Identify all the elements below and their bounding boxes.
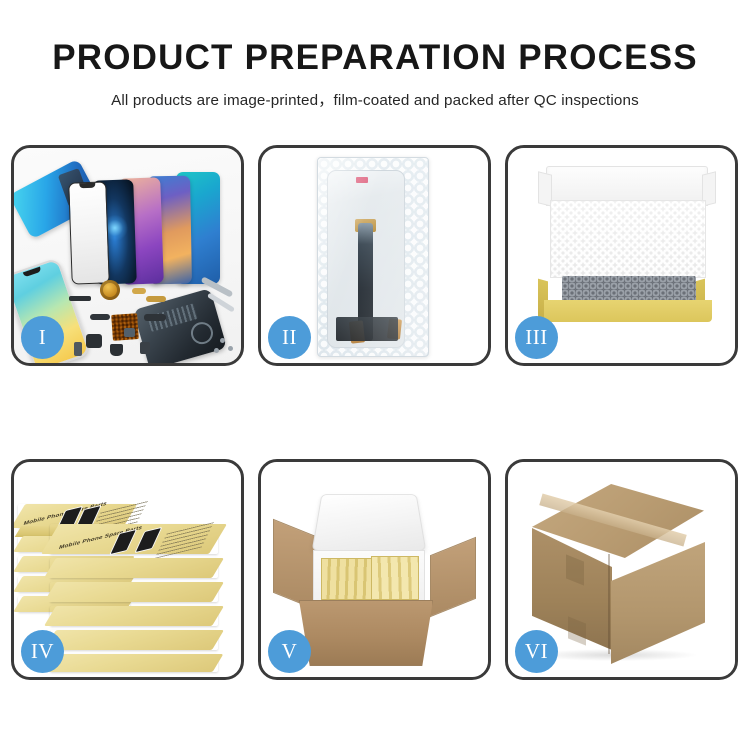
- lcd-bottom-bezel-icon: [336, 317, 398, 341]
- step-panel-3[interactable]: III: [505, 145, 738, 366]
- foam-lid-icon: [312, 494, 427, 551]
- step-badge-3: III: [515, 316, 558, 359]
- screw-icon: [228, 346, 233, 351]
- sim-tray-icon: [140, 342, 150, 354]
- gold-flex-icon: [146, 296, 166, 302]
- lcd-screen-icon: [327, 170, 405, 348]
- flex-cable-icon: [90, 314, 110, 320]
- phone-glass-screen-icon: [68, 181, 110, 284]
- gold-box-top: [44, 582, 224, 602]
- gold-box-top: [44, 558, 224, 578]
- screw-icon: [214, 348, 219, 353]
- step-panel-2[interactable]: II: [258, 145, 491, 366]
- step-panel-5[interactable]: V: [258, 459, 491, 680]
- step-badge-6: VI: [515, 630, 558, 673]
- phone-lineup-icon: [70, 166, 240, 284]
- gold-box: [50, 654, 218, 672]
- carton-flap-right-icon: [430, 537, 476, 618]
- camera-module-icon: [110, 344, 123, 356]
- box-spec-lines: [154, 521, 214, 559]
- gold-boxes-row-icon: [371, 556, 419, 600]
- step-panel-1[interactable]: I: [11, 145, 244, 366]
- page-subtitle: All products are image-printed，film-coat…: [0, 88, 750, 110]
- gold-connector-icon: [132, 288, 146, 294]
- step-panel-6[interactable]: VI: [505, 459, 738, 680]
- carton-right-face-icon: [611, 542, 705, 664]
- screw-icon: [220, 338, 225, 343]
- gold-box-top: Mobile Phone Spare Parts: [41, 524, 227, 554]
- step-badge-5: V: [268, 630, 311, 673]
- step-badge-2: II: [268, 316, 311, 359]
- white-foam-sheet-icon: [550, 200, 706, 278]
- pink-tape-icon: [356, 177, 368, 183]
- tray-front-panel-icon: [544, 300, 712, 322]
- speaker-bar-icon: [69, 296, 91, 301]
- flex-part-icon: [86, 334, 102, 348]
- gold-box-top: [44, 630, 224, 650]
- gold-box: [50, 630, 218, 650]
- button-part-icon: [124, 328, 135, 337]
- gold-box-top: [44, 606, 224, 626]
- step-badge-1: I: [21, 316, 64, 359]
- carton-corner-seam: [608, 554, 610, 654]
- carton-body-icon: [299, 600, 433, 666]
- product-preparation-process-infographic: PRODUCT PREPARATION PROCESS All products…: [0, 0, 750, 750]
- step-panel-4[interactable]: Mobile Phone Spare Parts: [11, 459, 244, 680]
- gold-box-top: [45, 654, 224, 672]
- gold-box: [50, 606, 218, 626]
- step-badge-4: IV: [21, 630, 64, 673]
- gold-box: [50, 558, 218, 578]
- small-part-icon: [74, 342, 82, 356]
- gold-box: Mobile Phone Spare Parts: [50, 524, 218, 554]
- page-title: PRODUCT PREPARATION PROCESS: [0, 38, 750, 78]
- copper-coil-icon: [100, 280, 120, 300]
- process-steps-grid: I II: [11, 145, 739, 680]
- ribbon-cable-icon: [144, 314, 166, 321]
- bubble-wrap-bag-icon: [317, 157, 429, 357]
- header: PRODUCT PREPARATION PROCESS All products…: [0, 0, 750, 110]
- gold-box: [50, 582, 218, 602]
